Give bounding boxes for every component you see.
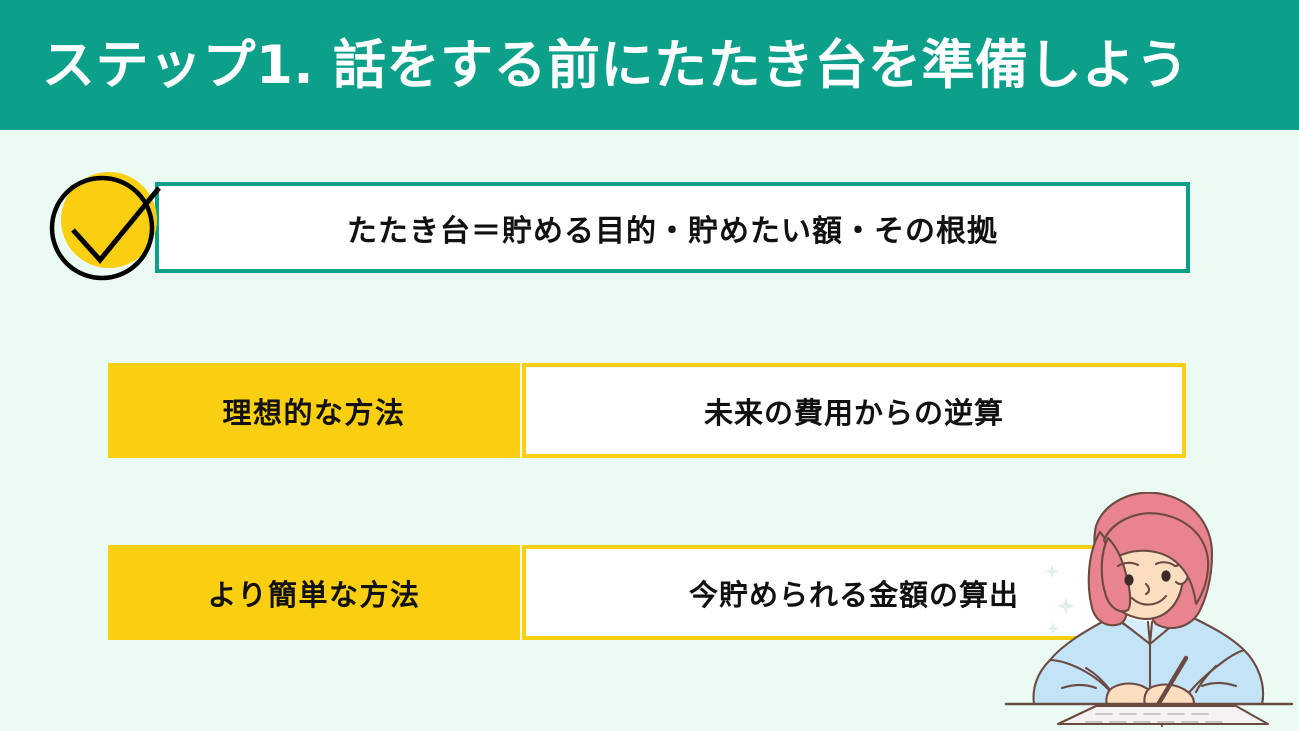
header-band: ステップ1. 話をする前にたたき台を準備しよう xyxy=(0,0,1299,130)
page-title: ステップ1. 話をする前にたたき台を準備しよう xyxy=(42,26,1272,106)
woman-writing-at-desk-illustration xyxy=(1000,492,1299,731)
method-row-ideal: 理想的な方法 未来の費用からの逆算 xyxy=(108,363,1186,458)
method-label: 理想的な方法 xyxy=(108,363,520,458)
method-label: より簡単な方法 xyxy=(108,545,520,640)
check-circle-icon xyxy=(47,168,177,285)
definition-text: たたき台＝貯める目的・貯めたい額・その根拠 xyxy=(159,186,1186,269)
slide-canvas: ステップ1. 話をする前にたたき台を準備しよう たたき台＝貯める目的・貯めたい額… xyxy=(0,0,1299,731)
definition-bar: たたき台＝貯める目的・貯めたい額・その根拠 xyxy=(155,182,1190,273)
method-value: 未来の費用からの逆算 xyxy=(522,363,1186,458)
